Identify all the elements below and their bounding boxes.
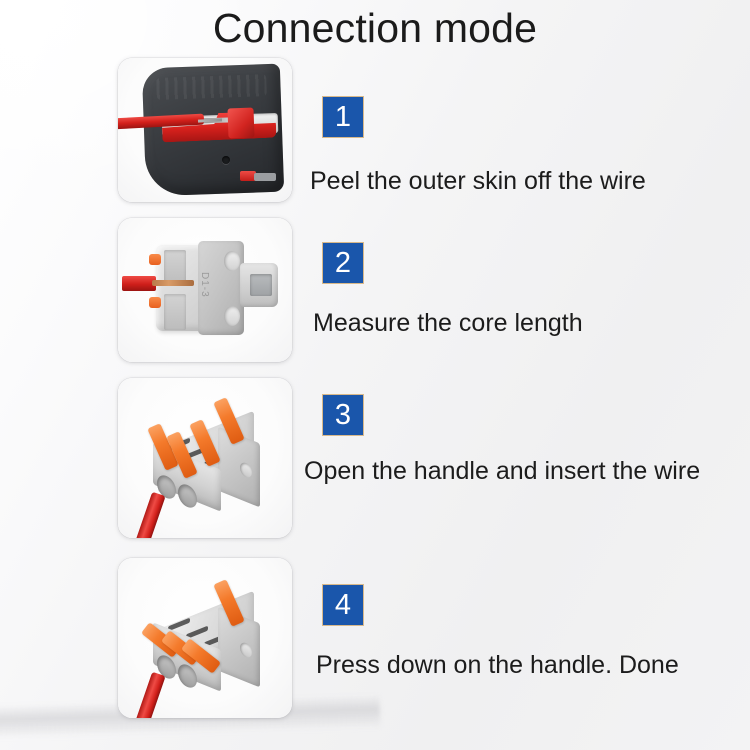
- step-1-number-badge: 1: [322, 96, 364, 138]
- red-wire-shape: [133, 672, 165, 718]
- connector-tab-window-shape: [250, 274, 272, 296]
- step-4-number-badge: 4: [322, 584, 364, 626]
- step-3-caption: Open the handle and insert the wire: [304, 454, 700, 488]
- wire-stripper-tool-photo: [118, 58, 292, 202]
- stripper-red-block-shape: [227, 108, 254, 139]
- connector-open-handle-photo: [118, 378, 292, 538]
- step-2-photo-card: D1-3: [118, 218, 292, 362]
- step-3-number-badge: 3: [322, 394, 364, 436]
- connector-3d-shape: [128, 570, 284, 716]
- step-row-2: D1-3 2 Measure the core length: [0, 216, 750, 396]
- step-3-photo-card: [118, 378, 292, 538]
- connector-slot-bottom-shape: [164, 294, 186, 330]
- wire-copper-core-shape: [152, 280, 194, 286]
- step-1-photo-card: [118, 58, 292, 202]
- connector-model-label: D1-3: [199, 272, 210, 298]
- step-2-caption: Measure the core length: [313, 306, 583, 340]
- connector-measure-photo: D1-3: [118, 218, 292, 362]
- connector-hole-top-shape: [224, 251, 240, 271]
- stripper-grey-tab-shape: [254, 173, 276, 181]
- step-1-caption: Peel the outer skin off the wire: [310, 164, 646, 198]
- connector-hole-bottom-shape: [224, 306, 240, 326]
- step-row-4: 4 Press down on the handle. Done: [0, 556, 750, 736]
- instruction-sheet: Connection mode 1 Peel the outer skin of…: [0, 0, 750, 750]
- step-4-caption: Press down on the handle. Done: [316, 648, 679, 682]
- step-row-1: 1 Peel the outer skin off the wire: [0, 56, 750, 236]
- red-wire-shape: [133, 492, 165, 538]
- connector-closed-handle-photo: [118, 558, 292, 718]
- lever-bottom-shape: [149, 297, 161, 308]
- connector-3d-shape: [128, 390, 284, 536]
- step-2-number-badge: 2: [322, 242, 364, 284]
- red-wire-shape: [122, 276, 156, 291]
- step-4-photo-card: [118, 558, 292, 718]
- stripper-pivot-hole-shape: [222, 156, 230, 164]
- lever-top-shape: [149, 254, 161, 265]
- page-title: Connection mode: [0, 2, 750, 54]
- step-row-3: 3 Open the handle and insert the wire: [0, 376, 750, 556]
